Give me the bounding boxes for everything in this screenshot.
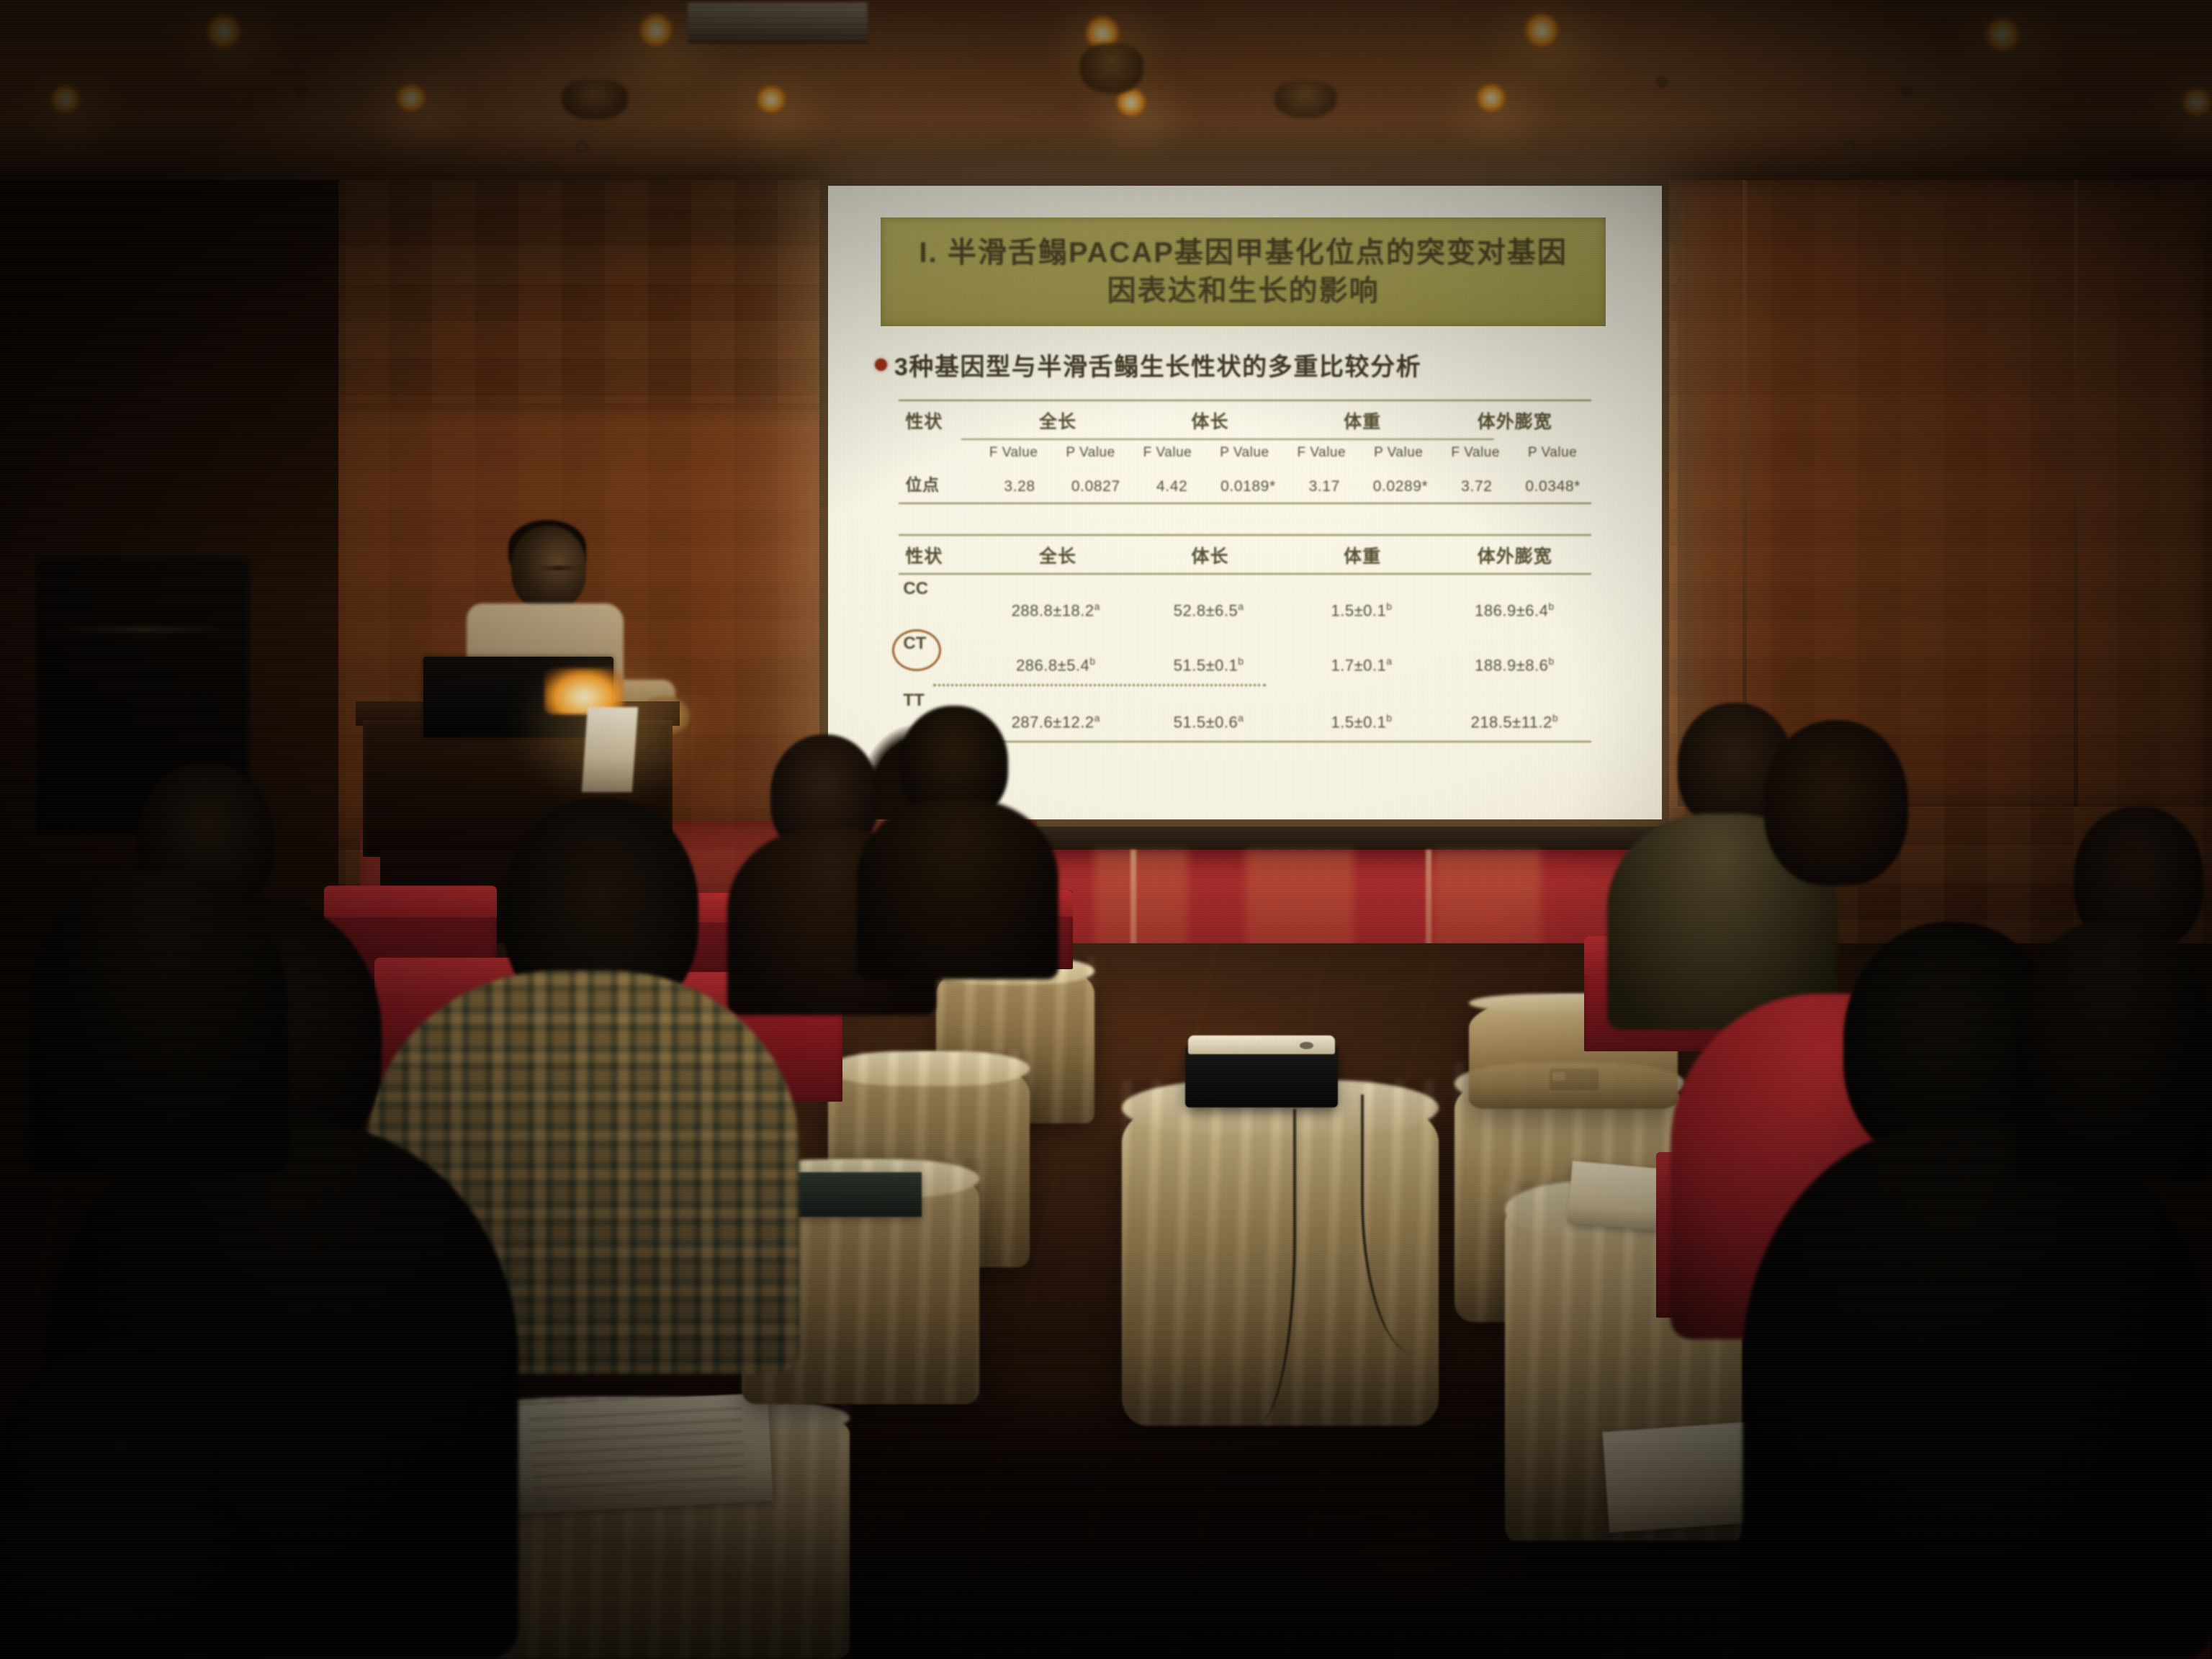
sprinkler-head-icon [1843,141,1855,153]
table-cell: 51.5±0.1b [1133,634,1285,675]
stage-top-trim [1030,827,1678,851]
cell-value: 288.8±18.2 [1012,601,1094,619]
cell-superscript: a [1094,601,1100,612]
cell-superscript: b [1548,601,1554,612]
table-header-cell: 体长 [1134,408,1287,433]
table-row-label: 位点 [899,471,981,495]
table-cell: 4.42 [1134,478,1210,495]
table-stat-header: P Value [1514,445,1591,461]
ceiling-speaker-icon [562,79,628,120]
slide-table-bottom: 性状 全长 体长 体重 体外膨宽 CC 288.8±18.2a 52.8±6.5… [899,534,1591,742]
table-cell: 0.0289* [1362,478,1439,495]
cell-value: 188.9±8.6 [1475,656,1548,674]
notebook [785,1172,922,1217]
table-cell: 51.5±0.6a [1133,691,1285,732]
cell-superscript: b [1386,601,1392,612]
table-cell: 218.5±11.2b [1438,691,1591,732]
cabinet-highlight [52,627,233,632]
table-cell: 3.72 [1439,478,1515,495]
cell-value: 286.8±5.4 [1016,656,1089,674]
table-cell: 186.9±6.4b [1438,579,1591,620]
ceiling-speaker-icon [1080,43,1143,94]
downlight-icon [1523,12,1560,49]
cell-value: 1.5±0.1 [1331,713,1387,731]
podium-papers [582,707,638,792]
table-stat-header: F Value [975,445,1052,461]
person-torso [2016,922,2212,1181]
table-row: CC 288.8±18.2a 52.8±6.5a 1.5±0.1b 186.9±… [899,575,1591,629]
projector[interactable] [1185,1046,1338,1107]
speaker-glasses-icon [536,566,582,570]
cell-superscript: b [1089,655,1095,667]
slide-bullet-text: 3种基因型与半滑舌鳎生长性状的多重比较分析 [894,347,1422,382]
table-row: TT 287.6±12.2a 51.5±0.6a 1.5±0.1b 218.5±… [899,686,1591,741]
cell-superscript: b [1238,655,1244,667]
table-stat-header: P Value [1052,445,1129,461]
cell-value: 1.5±0.1 [1331,601,1387,619]
table-cell: 3.28 [981,478,1058,495]
air-vent-grille-icon [688,3,868,43]
table-header-cell: 全长 [981,542,1134,568]
table-cell: 0.0348* [1515,478,1591,495]
sprinkler-head-icon [295,85,307,96]
table-header-cell: 体外膨宽 [1439,408,1591,433]
cell-superscript: b [1552,712,1558,724]
cell-value: 218.5±11.2 [1471,713,1552,731]
cell-value: 1.7±0.1 [1331,656,1387,674]
table-header-cell: 体重 [1286,408,1439,433]
table-header-cell: 性状 [899,542,981,568]
table-stat-header: P Value [1206,445,1283,461]
table-cell: 288.8±18.2a [979,579,1132,620]
table-header-cell: 全长 [981,408,1134,433]
table-row: 位点 3.28 0.0827 4.42 0.0189* 3.17 0.0289*… [899,466,1591,503]
slide-table-top: 性状 全长 体长 体重 体外膨宽 F Value P Value F Value… [899,400,1591,504]
cell-superscript: a [1238,601,1244,612]
downlight-icon [755,84,788,115]
slide-bullet-row: 3种基因型与半滑舌鳎生长性状的多重比较分析 [875,347,1609,382]
table-rule-bottom [899,503,1591,504]
table-cell: 188.9±8.6b [1438,634,1591,675]
sprinkler-head-icon [576,141,588,153]
table-rule-sub [961,439,1494,440]
table-stat-header: F Value [1129,445,1206,461]
cell-superscript: a [1094,712,1100,724]
cell-value: 51.5±0.6 [1174,713,1238,731]
ceiling-speaker-icon [1274,81,1336,118]
table-stat-spacer [899,445,975,461]
person-torso [29,871,288,1174]
person-torso [0,1498,274,1659]
table-cell: 1.5±0.1b [1285,579,1438,620]
table-stat-header: P Value [1360,445,1437,461]
cell-value: 186.9±6.4 [1475,601,1548,619]
person-torso [857,799,1058,979]
table-cell: 1.5±0.1b [1285,691,1438,732]
table-header-cell: 体外膨宽 [1439,542,1591,568]
cell-value: 52.8±6.5 [1174,601,1238,619]
cell-superscript: a [1386,655,1392,667]
genotype-label: CC [899,579,979,599]
table-cell: 0.0827 [1058,478,1134,495]
table-cell: 286.8±5.4b [979,634,1132,675]
table-cell: 52.8±6.5a [1133,579,1285,620]
table-header-cell: 性状 [899,408,981,433]
downlight-icon [49,84,82,115]
paper-handwriting [529,1407,746,1500]
wall-seam [2074,180,2078,806]
table-header-cell: 体长 [1134,542,1287,568]
slide-title-line-1: I. 半滑舌鳎PACAP基因甲基化位点的突变对基因 [919,234,1567,272]
sprinkler-head-icon [1901,85,1912,96]
person-head [1764,720,1908,886]
table-header-row: 性状 全长 体长 体重 体外膨宽 [899,536,1591,573]
table-cell: 287.6±12.2a [979,691,1132,732]
table-stat-header: F Value [1283,445,1360,461]
table-cell: 3.17 [1286,478,1362,495]
conference-room-photo: I. 半滑舌鳎PACAP基因甲基化位点的突变对基因 因表达和生长的影响 3种基因… [0,0,2212,1659]
cell-value: 287.6±12.2 [1012,713,1094,731]
downlight-icon [637,12,675,49]
cell-value: 51.5±0.1 [1174,656,1238,674]
slide-title-banner: I. 半滑舌鳎PACAP基因甲基化位点的突变对基因 因表达和生长的影响 [881,217,1606,326]
downlight-icon [205,13,243,50]
paper-sheet [501,1393,773,1514]
table-row: CT 286.8±5.4b 51.5±0.1b 1.7±0.1a 188.9±8… [899,629,1591,684]
table-header-cell: 体重 [1286,542,1439,568]
table-stat-header-row: F Value P Value F Value P Value F Value … [899,440,1591,466]
cell-superscript: b [1548,655,1554,667]
table-cell: 0.0189* [1210,478,1287,495]
table-cell: 1.7±0.1a [1285,634,1438,675]
bullet-dot-icon [875,359,887,371]
table-stat-header: F Value [1437,445,1514,461]
genotype-label-highlighted: CT [899,634,979,654]
ceiling [0,0,2212,194]
downlight-icon [1475,82,1508,114]
sprinkler-head-icon [1656,76,1668,88]
cell-superscript: b [1386,712,1392,724]
cell-superscript: a [1238,712,1244,724]
person-torso [1743,1123,2212,1659]
chair-back [324,886,497,917]
table-header-row: 性状 全长 体长 体重 体外膨宽 [899,401,1591,439]
slide-title-line-2: 因表达和生长的影响 [1107,272,1380,310]
vent-slats [688,3,868,43]
downlight-icon [2180,86,2212,118]
downlight-icon [1984,16,2021,53]
downlight-icon [395,82,428,114]
